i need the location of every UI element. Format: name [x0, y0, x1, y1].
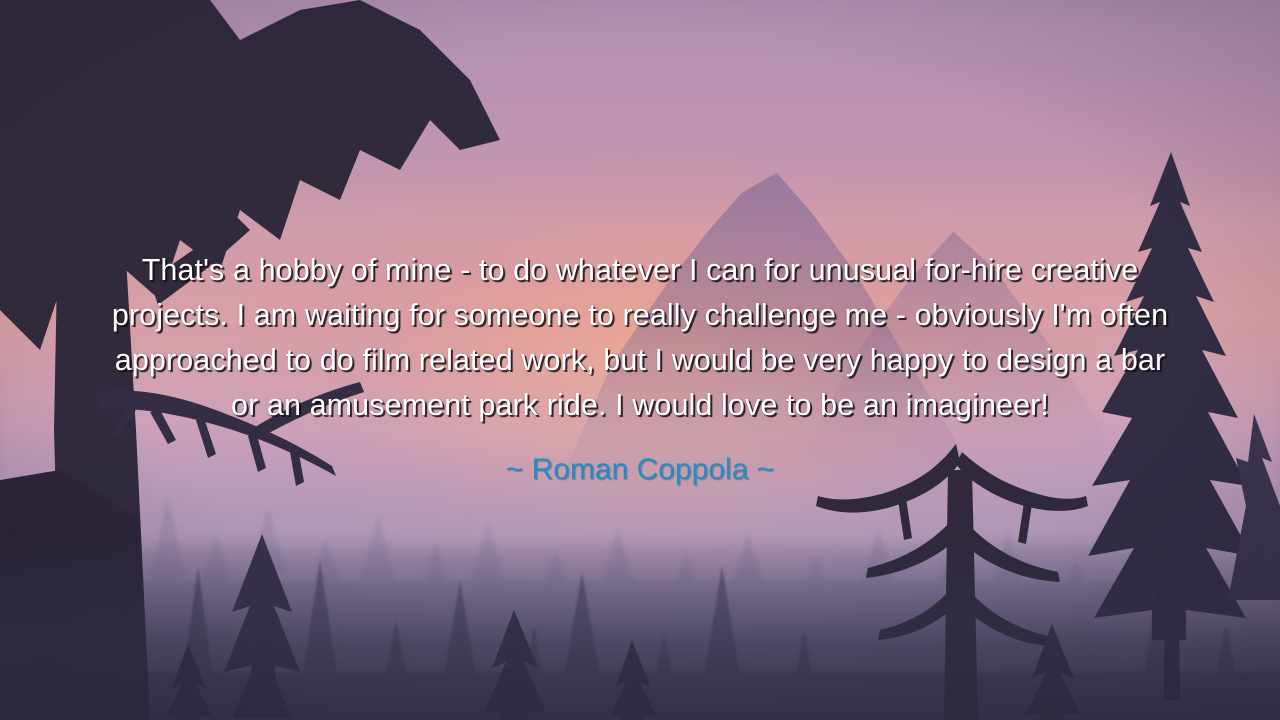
quote-text-block: That's a hobby of mine - to do whatever … [0, 248, 1280, 488]
ground-haze [0, 533, 1280, 720]
quote-attribution: ~ Roman Coppola ~ [104, 428, 1176, 488]
quote-text: That's a hobby of mine - to do whatever … [104, 248, 1176, 428]
quote-card: That's a hobby of mine - to do whatever … [0, 0, 1280, 720]
